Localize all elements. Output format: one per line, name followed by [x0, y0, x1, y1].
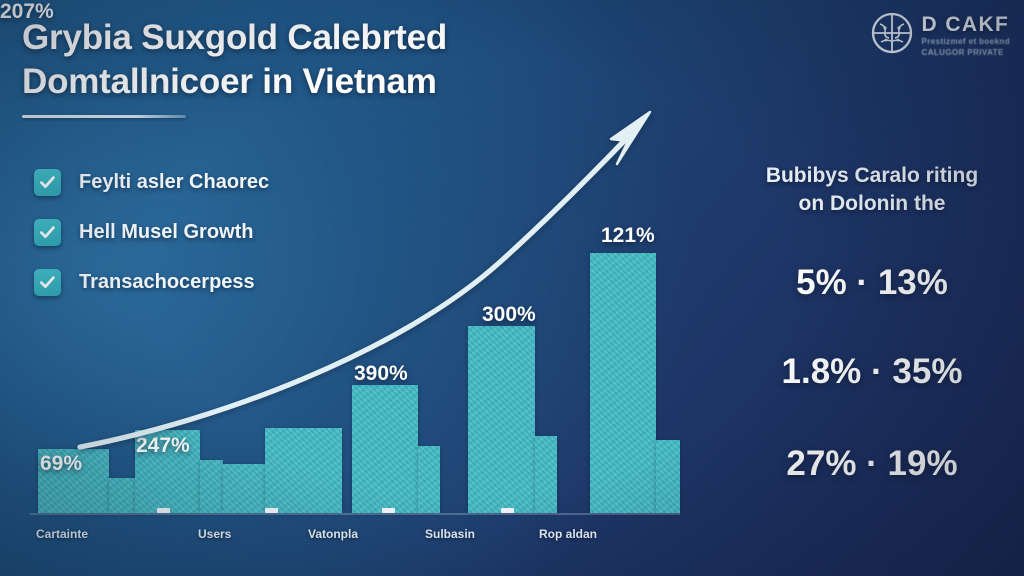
- axis-tick: [265, 508, 278, 513]
- axis-tick: [501, 508, 514, 513]
- bar-segment: [656, 440, 680, 513]
- check-icon: [34, 219, 61, 246]
- title-line-1: Grybia Suxgold Calebrted: [22, 16, 582, 60]
- bar-value-label: 300%: [482, 303, 536, 327]
- title-line-2: Domtallnicoer in Vietnam: [22, 60, 582, 104]
- logo-subtitle-1: Prestizmef et boeknd: [922, 38, 1010, 47]
- bar-segment: [223, 464, 265, 513]
- category-label: Vatonpla: [308, 527, 358, 541]
- bar-segment: [535, 436, 557, 513]
- logo-text-block: D CAKF Prestizmef et boeknd CALUGOR PRIV…: [922, 14, 1010, 58]
- infographic-canvas: 69%247%207%390%300%121%CartainteUsersVat…: [0, 0, 1024, 576]
- bar-value-label: 69%: [40, 452, 82, 476]
- stats-heading-line-2: on Dolonin the: [736, 190, 1008, 218]
- category-label: Users: [198, 527, 231, 541]
- feature-checklist: Feylti asler Chaorec Hell Musel Growth T…: [34, 160, 374, 310]
- bar-segment: [135, 430, 200, 513]
- check-icon: [34, 169, 61, 196]
- checklist-item-label: Hell Musel Growth: [79, 221, 253, 244]
- bar-segment: [109, 478, 135, 513]
- brand-logo[interactable]: D CAKF Prestizmef et boeknd CALUGOR PRIV…: [871, 12, 1010, 59]
- bar-segment: [468, 326, 535, 513]
- checklist-item[interactable]: Feylti asler Chaorec: [34, 160, 374, 204]
- bar-segment: [590, 253, 656, 513]
- bar-segment: [352, 385, 418, 513]
- axis-tick: [157, 508, 170, 513]
- checklist-item-label: Feylti asler Chaorec: [79, 171, 269, 194]
- bar-segment: [265, 428, 342, 513]
- bar-value-label: 121%: [601, 224, 655, 248]
- bar-value-label: 390%: [354, 362, 408, 386]
- axis-tick: [382, 508, 395, 513]
- stat-row: 5% · 13%: [736, 263, 1008, 303]
- checklist-item-label: Transachocerpess: [79, 271, 255, 294]
- title-underline: [22, 115, 186, 118]
- chart-baseline: [30, 513, 680, 515]
- category-label: Cartainte: [36, 527, 88, 541]
- page-title: Grybia Suxgold Calebrted Domtallnicoer i…: [22, 16, 582, 118]
- bar-segment: [200, 460, 223, 513]
- logo-name: D CAKF: [922, 13, 1010, 36]
- stats-panel: Bubibys Caralo riting on Dolonin the 5% …: [736, 162, 1008, 484]
- check-icon: [34, 269, 61, 296]
- checklist-item[interactable]: Hell Musel Growth: [34, 210, 374, 254]
- category-label: Rop aldan: [539, 527, 597, 541]
- logo-subtitle-2: CALUGOR PRIVATE: [922, 49, 1010, 58]
- stat-row: 27% · 19%: [736, 444, 1008, 484]
- brain-circle-emblem-icon: [871, 12, 913, 59]
- checklist-item[interactable]: Transachocerpess: [34, 260, 374, 304]
- bar-value-label: 247%: [136, 434, 190, 458]
- stat-row: 1.8% · 35%: [736, 352, 1008, 392]
- stats-heading-line-1: Bubibys Caralo riting: [736, 162, 1008, 190]
- bar-segment: [418, 446, 440, 513]
- category-label: Sulbasin: [425, 527, 475, 541]
- bar-segment: [38, 449, 109, 513]
